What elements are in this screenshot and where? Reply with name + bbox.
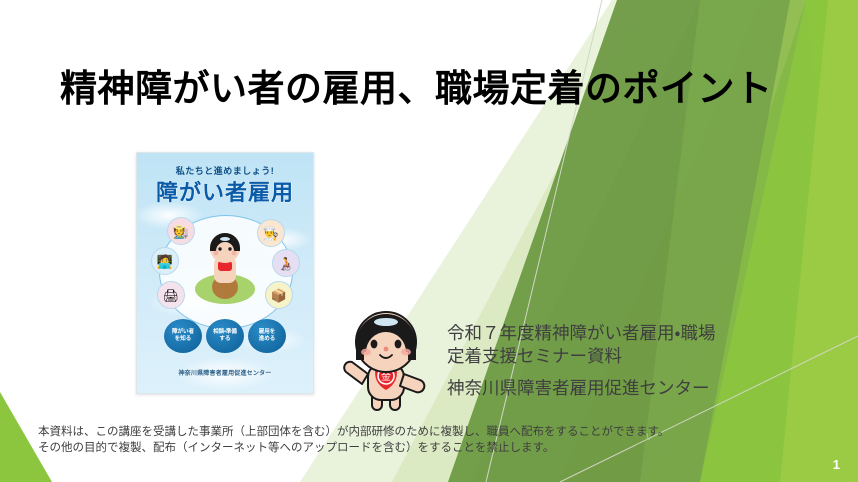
step-2-line-1: 相談・準備 [213, 329, 237, 336]
slide-title: 精神障がい者の雇用、職場定着のポイント [60, 68, 780, 111]
booklet-center-mascot-illustration [193, 231, 257, 311]
chef-icon: 👨‍🍳 [263, 227, 279, 240]
booklet-mini-figure-gardener: 🧑‍🌾 [167, 217, 195, 245]
mascot-character-illustration: 金 [330, 304, 442, 414]
wheelchair-icon: 🧑‍🦽 [278, 257, 294, 270]
mascot-eye-right [395, 340, 402, 349]
gardener-icon: 🧑‍🌾 [173, 225, 189, 238]
copyright-disclaimer: 本資料は、この講座を受講した事業所（上部団体を含む）が内部研修のために複製し、職… [38, 424, 828, 457]
mascot-cheek-left [361, 349, 371, 356]
disclaimer-line-2: その他の目的で複製、配布（インターネット等へのアップロードを含む）をすることを禁… [38, 440, 828, 456]
step-1-line-1: 障がい者 [172, 329, 194, 336]
booklet-organization-name: 神奈川県障害者雇用促進センター [137, 368, 313, 377]
watermark-digit: 1 [645, 432, 650, 442]
booklet-step-pill-row: 障がい者 を知る 相談・準備 する 雇用を 進める [137, 319, 313, 353]
step-2-line-2: する [219, 336, 230, 343]
booklet-step-pill-1: 障がい者 を知る [164, 319, 202, 353]
booklet-mascot-eye-left [218, 247, 221, 250]
office-worker-icon: 🧑‍💻 [157, 255, 173, 268]
seminar-caption-block: 令和７年度精神障がい者雇用・職場 定着支援セミナー資料 神奈川県障害者雇用促進セ… [447, 322, 783, 400]
booklet-mascot-cheek-left [214, 251, 219, 256]
mascot-arm-left-waving [344, 362, 368, 384]
mascot-cheek-right [401, 349, 411, 356]
booklet-mini-figure-printer: 🖨 [157, 281, 185, 309]
booklet-mini-figure-chef: 👨‍🍳 [257, 219, 285, 247]
caption-line-1: 令和７年度精神障がい者雇用・職場 [447, 322, 783, 345]
booklet-mascot-hair-cap [220, 237, 230, 241]
disclaimer-line-1: 本資料は、この講座を受講した事業所（上部団体を含む）が内部研修のために複製し、職… [38, 424, 828, 440]
booklet-main-title: 障がい者雇用 [137, 175, 313, 207]
step-1-line-2: を知る [175, 336, 192, 343]
step-3-line-1: 雇用を [259, 329, 276, 336]
step-3-line-2: 進める [259, 336, 276, 343]
booklet-step-pill-2: 相談・準備 する [206, 319, 244, 353]
booklet-mini-figure-office: 🧑‍💻 [151, 247, 179, 275]
booklet-mini-figure-wheelchair: 🧑‍🦽 [272, 249, 300, 277]
page-number: 1 [833, 457, 840, 472]
booklet-step-pill-3: 雇用を 進める [248, 319, 286, 353]
booklet-mascot-eye-right [228, 247, 231, 250]
booklet-mascot-cheek-right [232, 251, 237, 256]
warehouse-icon: 📦 [271, 289, 287, 302]
mascot-eye-left [371, 340, 378, 349]
booklet-cover-image[interactable]: 私たちと進めましょう! 障がい者雇用 🧑‍🌾 👨‍🍳 🧑‍💻 [136, 152, 314, 394]
caption-organization: 神奈川県障害者雇用促進センター [447, 377, 783, 400]
bg-shape-right-column [780, 0, 858, 482]
presentation-slide: 精神障がい者の雇用、職場定着のポイント 私たちと進めましょう! 障がい者雇用 🧑… [0, 0, 858, 482]
printer-icon: 🖨 [163, 289, 180, 302]
booklet-mini-figure-warehouse: 📦 [265, 281, 293, 309]
mascot-hair-highlight [374, 318, 398, 326]
mascot-nose [384, 347, 389, 352]
caption-line-2: 定着支援セミナー資料 [447, 345, 783, 368]
